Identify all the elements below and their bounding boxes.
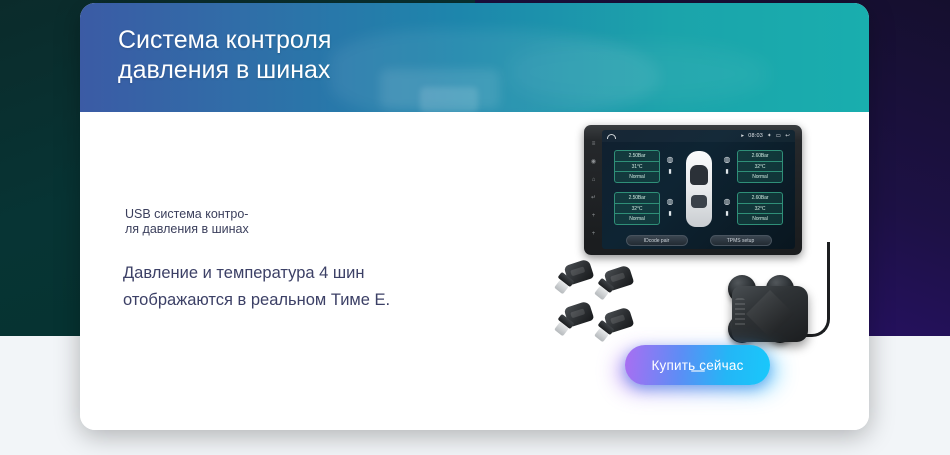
- bluetooth-icon: ✦: [767, 133, 772, 139]
- signal-wave-icon: ◍: [666, 197, 674, 206]
- tpms-status: Normal: [738, 213, 782, 224]
- product-description: Давление и температура 4 шин отображаютс…: [123, 260, 433, 314]
- tpms-status: Normal: [615, 213, 659, 224]
- side-button-mute[interactable]: ◉: [590, 159, 597, 166]
- valve-sensor-group: [556, 262, 676, 342]
- tpms-pressure: 2.50Bar: [615, 151, 659, 161]
- lock-icon: ▮: [666, 169, 674, 176]
- signal-wave-icon: ◍: [723, 155, 731, 164]
- valve-sensor: [596, 268, 642, 302]
- signal-wave-icon: ◍: [666, 155, 674, 164]
- header-ghost-shape-c: [420, 87, 478, 112]
- tpms-pressure: 2.50Bar: [615, 193, 659, 203]
- head-unit-screen: ▸ 08:03 ✦ ▭ ↩ 2.50Bar 31°C Normal 2.60B: [602, 130, 795, 249]
- tpms-temperature: 32°C: [738, 161, 782, 172]
- page-title: Система контроля давления в шинах: [118, 25, 331, 85]
- card-body: USB система контро- ля давления в шинах …: [80, 112, 869, 430]
- wifi-icon: ▭: [776, 133, 781, 139]
- product-subheading: USB система контро- ля давления в шинах: [125, 207, 249, 237]
- tpms-cell-rear-right[interactable]: 2.60Bar 32°C Normal: [737, 192, 783, 225]
- home-icon[interactable]: [607, 134, 616, 139]
- statusbar-clock: 08:03: [748, 133, 763, 139]
- tpms-temperature: 32°C: [615, 203, 659, 214]
- promo-card: Система контроля давления в шинах USB си…: [80, 3, 869, 430]
- buy-now-button[interactable]: Купить сейчас: [625, 345, 770, 385]
- tpms-cell-rear-left[interactable]: 2.50Bar 32°C Normal: [614, 192, 660, 225]
- signal-wave-icon: ◍: [723, 197, 731, 206]
- cta-container: Купить сейчас: [625, 345, 770, 385]
- receiver-housing: [732, 286, 808, 342]
- cta-underline-accent: [691, 370, 705, 372]
- car-top-view-graphic: [686, 151, 712, 227]
- tpms-cell-front-left[interactable]: 2.50Bar 31°C Normal: [614, 150, 660, 183]
- side-button-volume-up[interactable]: ≡: [590, 141, 597, 148]
- head-unit-action-buttons: IDcode pair TPMS setup: [602, 235, 795, 246]
- play-icon: ▸: [741, 133, 744, 139]
- head-unit-side-buttons[interactable]: ≡ ◉ ⌂ ↵ + +: [588, 135, 599, 243]
- tpms-temperature: 32°C: [738, 203, 782, 214]
- side-button-back[interactable]: ↵: [590, 195, 597, 202]
- tpms-setup-button[interactable]: TPMS setup: [710, 235, 772, 246]
- lock-icon: ▮: [723, 169, 731, 176]
- side-button-home[interactable]: ⌂: [590, 177, 597, 184]
- side-button-plus[interactable]: +: [590, 213, 597, 220]
- usb-receiver-module: [732, 286, 808, 342]
- idcode-pair-button[interactable]: IDcode pair: [626, 235, 688, 246]
- tpms-pressure: 2.60Bar: [738, 151, 782, 161]
- statusbar-system-icons: ▸ 08:03 ✦ ▭ ↩: [741, 133, 790, 139]
- header-ghost-shape-d: [510, 43, 770, 103]
- tpms-temperature: 31°C: [615, 161, 659, 172]
- tpms-status: Normal: [615, 171, 659, 182]
- valve-sensor: [596, 310, 642, 344]
- lock-icon: ▮: [666, 211, 674, 218]
- lock-icon: ▮: [723, 211, 731, 218]
- card-header-banner: Система контроля давления в шинах: [80, 3, 869, 112]
- car-head-unit: ≡ ◉ ⌂ ↵ + + ▸ 08:03 ✦ ▭ ↩: [584, 125, 802, 255]
- tpms-pressure: 2.60Bar: [738, 193, 782, 203]
- head-unit-statusbar: ▸ 08:03 ✦ ▭ ↩: [602, 130, 795, 142]
- side-button-minus[interactable]: +: [590, 231, 597, 238]
- back-icon: ↩: [785, 133, 790, 139]
- tpms-dashboard: 2.50Bar 31°C Normal 2.60Bar 32°C Normal …: [602, 142, 795, 236]
- tpms-status: Normal: [738, 171, 782, 182]
- tpms-cell-front-right[interactable]: 2.60Bar 32°C Normal: [737, 150, 783, 183]
